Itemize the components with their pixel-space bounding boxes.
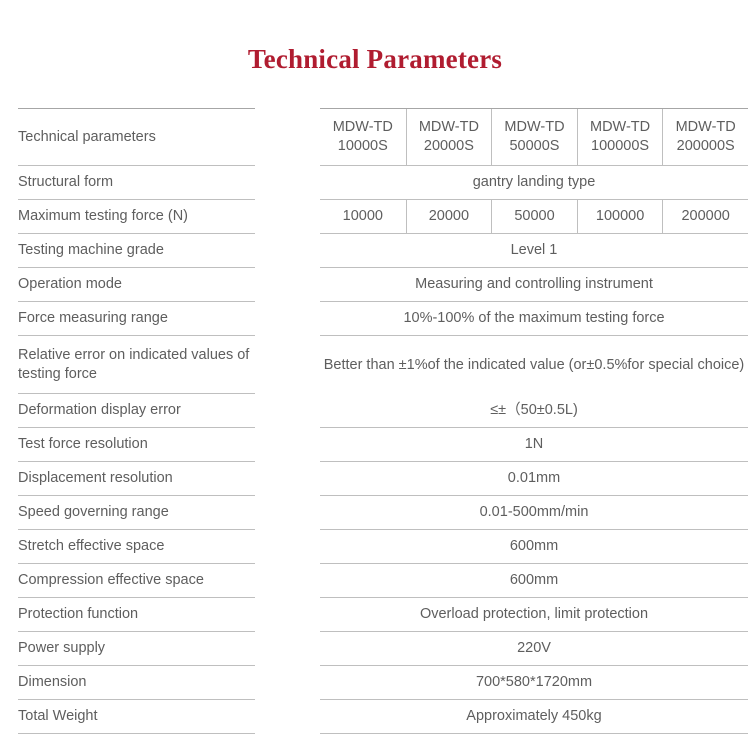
model-3-series: MDW-TD <box>504 118 564 137</box>
row-label-cell: Dimension <box>0 666 305 700</box>
table-row: Power supply 220V <box>0 632 750 666</box>
model-column-4: MDW-TD 100000S <box>577 109 663 165</box>
row-value-cell: Overload protection, limit protection <box>305 598 750 632</box>
row-label-cell: Stretch effective space <box>0 530 305 564</box>
row-value-power-supply: 220V <box>517 639 551 658</box>
row-value-test-force-resolution: 1N <box>525 435 544 454</box>
row-value-cell: 10%-100% of the maximum testing force <box>305 302 750 336</box>
row-label-cell: Testing machine grade <box>0 234 305 268</box>
row-label-speed-governing-range: Speed governing range <box>18 503 169 522</box>
row-value-cell: ≤±（50±0.5L) <box>305 394 750 428</box>
row-label-cell: Relative error on indicated values of te… <box>0 336 305 394</box>
table-row: Stretch effective space 600mm <box>0 530 750 564</box>
row-value-displacement-resolution: 0.01mm <box>508 469 560 488</box>
header-models-cell: MDW-TD 10000S MDW-TD 20000S <box>305 108 750 166</box>
row-label-compression-effective-space: Compression effective space <box>18 571 204 590</box>
model-column-5: MDW-TD 200000S <box>662 109 748 165</box>
row-label-cell: Protection function <box>0 598 305 632</box>
force-value-2: 20000 <box>406 200 492 233</box>
row-label-cell: Deformation display error <box>0 394 305 428</box>
row-value-cell: gantry landing type <box>305 166 750 200</box>
row-label-cell: Force measuring range <box>0 302 305 336</box>
model-5-capacity: 200000S <box>677 137 735 156</box>
row-value-protection-function: Overload protection, limit protection <box>420 605 648 624</box>
table-row: Protection function Overload protection,… <box>0 598 750 632</box>
row-label-protection-function: Protection function <box>18 605 138 624</box>
model-column-1: MDW-TD 10000S <box>320 109 406 165</box>
model-1-series: MDW-TD <box>333 118 393 137</box>
row-label-cell: Displacement resolution <box>0 462 305 496</box>
row-label-dimension: Dimension <box>18 673 87 692</box>
row-value-cell: Approximately 450kg <box>305 700 750 734</box>
table-row: Dimension 700*580*1720mm <box>0 666 750 700</box>
row-label-operation-mode: Operation mode <box>18 275 122 294</box>
table-header-row: Technical parameters MDW-TD 10000S <box>0 108 750 166</box>
row-value-dimension: 700*580*1720mm <box>476 673 592 692</box>
row-label-power-supply: Power supply <box>18 639 105 658</box>
row-value-total-weight: Approximately 450kg <box>466 707 601 726</box>
row-label-structural-form: Structural form <box>18 173 113 192</box>
model-1-capacity: 10000S <box>338 137 388 156</box>
row-value-cell: 10000 20000 50000 100000 200000 <box>305 200 750 234</box>
row-value-cell: Level 1 <box>305 234 750 268</box>
row-label-total-weight: Total Weight <box>18 707 98 726</box>
row-value-cell: 700*580*1720mm <box>305 666 750 700</box>
force-value-5: 200000 <box>662 200 748 233</box>
table-row: Total Weight Approximately 450kg <box>0 700 750 734</box>
model-column-3: MDW-TD 50000S <box>491 109 577 165</box>
row-value-cell: 1N <box>305 428 750 462</box>
row-label-cell: Compression effective space <box>0 564 305 598</box>
row-label-test-force-resolution: Test force resolution <box>18 435 148 454</box>
table-row: Operation mode Measuring and controlling… <box>0 268 750 302</box>
force-value-4: 100000 <box>577 200 663 233</box>
header-label-cell: Technical parameters <box>0 108 305 166</box>
row-label-force-measuring-range: Force measuring range <box>18 309 168 328</box>
row-value-cell: 220V <box>305 632 750 666</box>
row-label-cell: Speed governing range <box>0 496 305 530</box>
table-row: Compression effective space 600mm <box>0 564 750 598</box>
row-label-testing-machine-grade: Testing machine grade <box>18 241 164 260</box>
model-column-2: MDW-TD 20000S <box>406 109 492 165</box>
row-value-structural-form: gantry landing type <box>473 173 596 192</box>
specifications-table: Technical parameters MDW-TD 10000S <box>0 108 750 734</box>
model-2-series: MDW-TD <box>419 118 479 137</box>
row-label-cell: Power supply <box>0 632 305 666</box>
table-row: Structural form gantry landing type <box>0 166 750 200</box>
row-label-maximum-testing-force: Maximum testing force (N) <box>18 207 188 226</box>
table-row: Deformation display error ≤±（50±0.5L) <box>0 394 750 428</box>
row-value-cell: Measuring and controlling instrument <box>305 268 750 302</box>
row-value-cell: Better than ±1%of the indicated value (o… <box>305 336 750 394</box>
model-4-capacity: 100000S <box>591 137 649 156</box>
row-label-deformation-display-error: Deformation display error <box>18 401 181 420</box>
row-value-cell: 0.01mm <box>305 462 750 496</box>
model-3-capacity: 50000S <box>509 137 559 156</box>
table-row: Force measuring range 10%-100% of the ma… <box>0 302 750 336</box>
row-value-deformation-display-error: ≤±（50±0.5L) <box>490 401 578 420</box>
row-value-speed-governing-range: 0.01-500mm/min <box>480 503 589 522</box>
model-4-series: MDW-TD <box>590 118 650 137</box>
row-label-cell: Test force resolution <box>0 428 305 462</box>
row-label-stretch-effective-space: Stretch effective space <box>18 537 164 556</box>
row-value-cell: 600mm <box>305 530 750 564</box>
row-value-force-measuring-range: 10%-100% of the maximum testing force <box>403 309 664 328</box>
row-value-compression-effective-space: 600mm <box>510 571 558 590</box>
row-value-cell: 0.01-500mm/min <box>305 496 750 530</box>
row-value-stretch-effective-space: 600mm <box>510 537 558 556</box>
row-label-cell: Total Weight <box>0 700 305 734</box>
header-label-text: Technical parameters <box>18 128 156 147</box>
row-label-cell: Operation mode <box>0 268 305 302</box>
table-row: Test force resolution 1N <box>0 428 750 462</box>
technical-parameters-page: Technical Parameters Technical parameter… <box>0 0 750 693</box>
table-row: Displacement resolution 0.01mm <box>0 462 750 496</box>
row-value-relative-error: Better than ±1%of the indicated value (o… <box>324 356 745 375</box>
table-row: Testing machine grade Level 1 <box>0 234 750 268</box>
row-label-cell: Maximum testing force (N) <box>0 200 305 234</box>
model-2-capacity: 20000S <box>424 137 474 156</box>
force-value-3: 50000 <box>491 200 577 233</box>
table-row: Maximum testing force (N) 10000 20000 50… <box>0 200 750 234</box>
row-label-relative-error: Relative error on indicated values of te… <box>18 346 251 384</box>
row-value-cell: 600mm <box>305 564 750 598</box>
row-value-testing-machine-grade: Level 1 <box>511 241 558 260</box>
row-value-operation-mode: Measuring and controlling instrument <box>415 275 653 294</box>
table-row: Speed governing range 0.01-500mm/min <box>0 496 750 530</box>
row-label-displacement-resolution: Displacement resolution <box>18 469 173 488</box>
model-5-series: MDW-TD <box>676 118 736 137</box>
table-row: Relative error on indicated values of te… <box>0 336 750 394</box>
force-value-1: 10000 <box>320 200 406 233</box>
page-title: Technical Parameters <box>0 44 750 75</box>
row-label-cell: Structural form <box>0 166 305 200</box>
